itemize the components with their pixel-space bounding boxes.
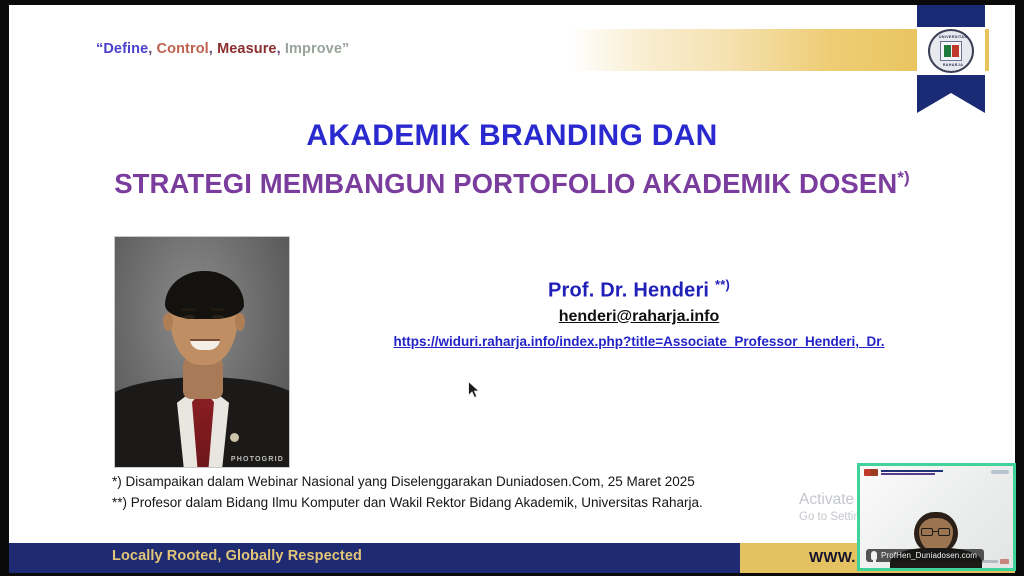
shared-slide-logo-icon xyxy=(864,469,878,476)
photo-eye-right xyxy=(212,315,224,319)
webcam-participant-name: ProfHen_Duniadosen.com xyxy=(881,551,977,560)
ribbon-tail xyxy=(917,93,985,113)
shared-slide-line-1 xyxy=(881,470,943,472)
tagline-sep-3: , xyxy=(277,41,285,57)
speaker-email[interactable]: henderi@raharja.info xyxy=(339,308,939,326)
footer-slogan: Locally Rooted, Globally Respected xyxy=(112,548,362,564)
photo-watermark: PHOTOGRID xyxy=(231,456,284,463)
footnote-1: *) Disampaikan dalam Webinar Nasional ya… xyxy=(112,471,703,492)
university-ribbon: UNIVERSITAS RAHARJA xyxy=(917,5,985,115)
photo-ear-left xyxy=(163,313,173,331)
tagline-close-quote: ” xyxy=(342,41,349,57)
slide-title-line2: STRATEGI MEMBANGUN PORTOFOLIO AKADEMIK D… xyxy=(9,158,1015,204)
seal-text-top: UNIVERSITAS xyxy=(930,35,976,39)
seal-block-green xyxy=(944,45,951,57)
tagline-word-measure: Measure xyxy=(217,41,277,57)
webcam-overlay[interactable]: ProfHen_Duniadosen.com xyxy=(857,463,1016,571)
slide-tagline: “Define, Control, Measure, Improve” xyxy=(96,41,349,57)
screen-root: UNIVERSITAS RAHARJA “Define, Control, Me… xyxy=(0,0,1024,576)
slide-title: AKADEMIK BRANDING DAN STRATEGI MEMBANGUN… xyxy=(9,118,1015,204)
speaker-info: Prof. Dr. Henderi **) henderi@raharja.in… xyxy=(339,277,939,349)
webcam-shared-slide-header xyxy=(864,469,943,476)
microphone-icon xyxy=(871,551,877,560)
slide-title-line2-text: STRATEGI MEMBANGUN PORTOFOLIO AKADEMIK D… xyxy=(114,168,897,199)
tagline-sep-1: , xyxy=(148,41,156,57)
photo-ear-right xyxy=(235,313,245,331)
speaker-name: Prof. Dr. Henderi **) xyxy=(339,277,939,303)
tagline-word-define: Define xyxy=(103,41,148,57)
shared-slide-line-2 xyxy=(881,473,935,475)
photo-eye-left xyxy=(183,315,195,319)
tagline-word-control: Control xyxy=(157,41,209,57)
tagline-word-improve: Improve xyxy=(285,41,342,57)
webcam-name-label: ProfHen_Duniadosen.com xyxy=(866,549,984,562)
glasses-bridge-icon xyxy=(933,531,938,532)
glasses-right-icon xyxy=(938,528,950,536)
photo-brow-right xyxy=(210,308,225,311)
speaker-footnote-marker: **) xyxy=(715,277,730,292)
slide-footnotes: *) Disampaikan dalam Webinar Nasional ya… xyxy=(112,471,703,513)
glasses-left-icon xyxy=(921,528,933,536)
speaker-profile-link[interactable]: https://widuri.raharja.info/index.php?ti… xyxy=(339,334,939,349)
shared-slide-title-lines xyxy=(881,470,943,476)
university-seal-icon: UNIVERSITAS RAHARJA xyxy=(928,29,974,73)
shared-slide-badge xyxy=(991,470,1009,474)
seal-text-bottom: RAHARJA xyxy=(930,63,976,67)
tagline-sep-2: , xyxy=(209,41,217,57)
photo-brow-left xyxy=(181,308,196,311)
slide-title-footnote-marker: *) xyxy=(897,168,909,187)
seal-emblem xyxy=(940,41,962,61)
speaker-name-text: Prof. Dr. Henderi xyxy=(548,280,709,302)
seal-block-red xyxy=(952,45,959,57)
webcam-corner-marks xyxy=(982,559,1009,564)
corner-mark-2 xyxy=(1000,559,1009,564)
slide-title-line1: AKADEMIK BRANDING DAN xyxy=(9,118,1015,154)
corner-mark-1 xyxy=(982,560,998,563)
footer-website: WWW. xyxy=(809,549,856,566)
speaker-photo: PHOTOGRID xyxy=(114,236,290,468)
footnote-2: **) Profesor dalam Bidang Ilmu Komputer … xyxy=(112,492,703,513)
photo-lapel-pin xyxy=(230,433,239,442)
